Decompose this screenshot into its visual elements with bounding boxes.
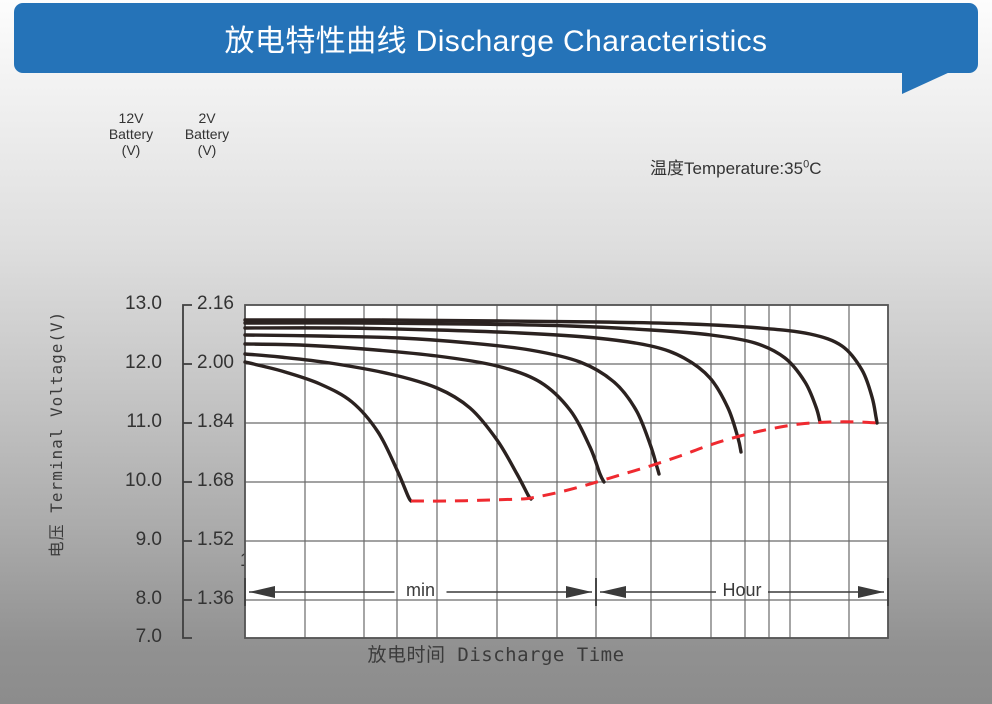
scalebar-label-min: min [381, 580, 461, 601]
banner-tail-decoration [902, 72, 950, 94]
discharge-characteristics-plot [0, 92, 992, 704]
y-axis-bracket [183, 305, 192, 638]
y-axis-tick-marks [183, 305, 192, 638]
page-title: 放电特性曲线 Discharge Characteristics [225, 16, 768, 60]
scalebar-label-hour: Hour [702, 580, 782, 601]
chart-stage: 12V Battery (V) 2V Battery (V) 温度Tempera… [0, 92, 992, 704]
header-banner: 放电特性曲线 Discharge Characteristics [14, 3, 978, 73]
header-banner-area: 放电特性曲线 Discharge Characteristics [0, 0, 992, 92]
